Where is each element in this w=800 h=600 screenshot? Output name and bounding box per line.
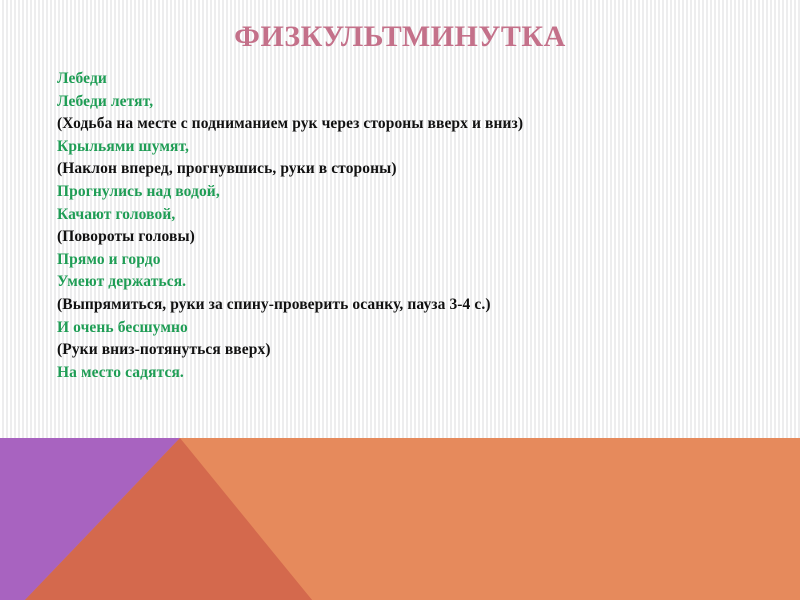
bottom-color-band (0, 438, 800, 600)
verse-line: На место садятся. (57, 362, 757, 385)
instruction-line: (Ходьба на месте с подниманием рук через… (57, 113, 757, 136)
verse-line: Умеют держаться. (57, 271, 757, 294)
page-title: ФИЗКУЛЬТМИНУТКА (234, 20, 566, 53)
verse-line: И очень бесшумно (57, 317, 757, 340)
verse-line: Лебеди (57, 68, 757, 91)
page-title-container: ФИЗКУЛЬТМИНУТКА (0, 20, 800, 53)
instruction-line: (Повороты головы) (57, 226, 757, 249)
verse-line: Качают головой, (57, 204, 757, 227)
poem-text-block: ЛебедиЛебеди летят,(Ходьба на месте с по… (57, 68, 757, 384)
instruction-line: (Руки вниз-потянуться вверх) (57, 339, 757, 362)
instruction-line: (Выпрямиться, руки за спину-проверить ос… (57, 294, 757, 317)
slide: ФИЗКУЛЬТМИНУТКА ЛебедиЛебеди летят,(Ходь… (0, 0, 800, 600)
verse-line: Прогнулись над водой, (57, 181, 757, 204)
instruction-line: (Наклон вперед, прогнувшись, руки в стор… (57, 158, 757, 181)
decorative-shapes (0, 438, 800, 600)
verse-line: Лебеди летят, (57, 91, 757, 114)
verse-line: Прямо и гордо (57, 249, 757, 272)
verse-line: Крыльями шумят, (57, 136, 757, 159)
